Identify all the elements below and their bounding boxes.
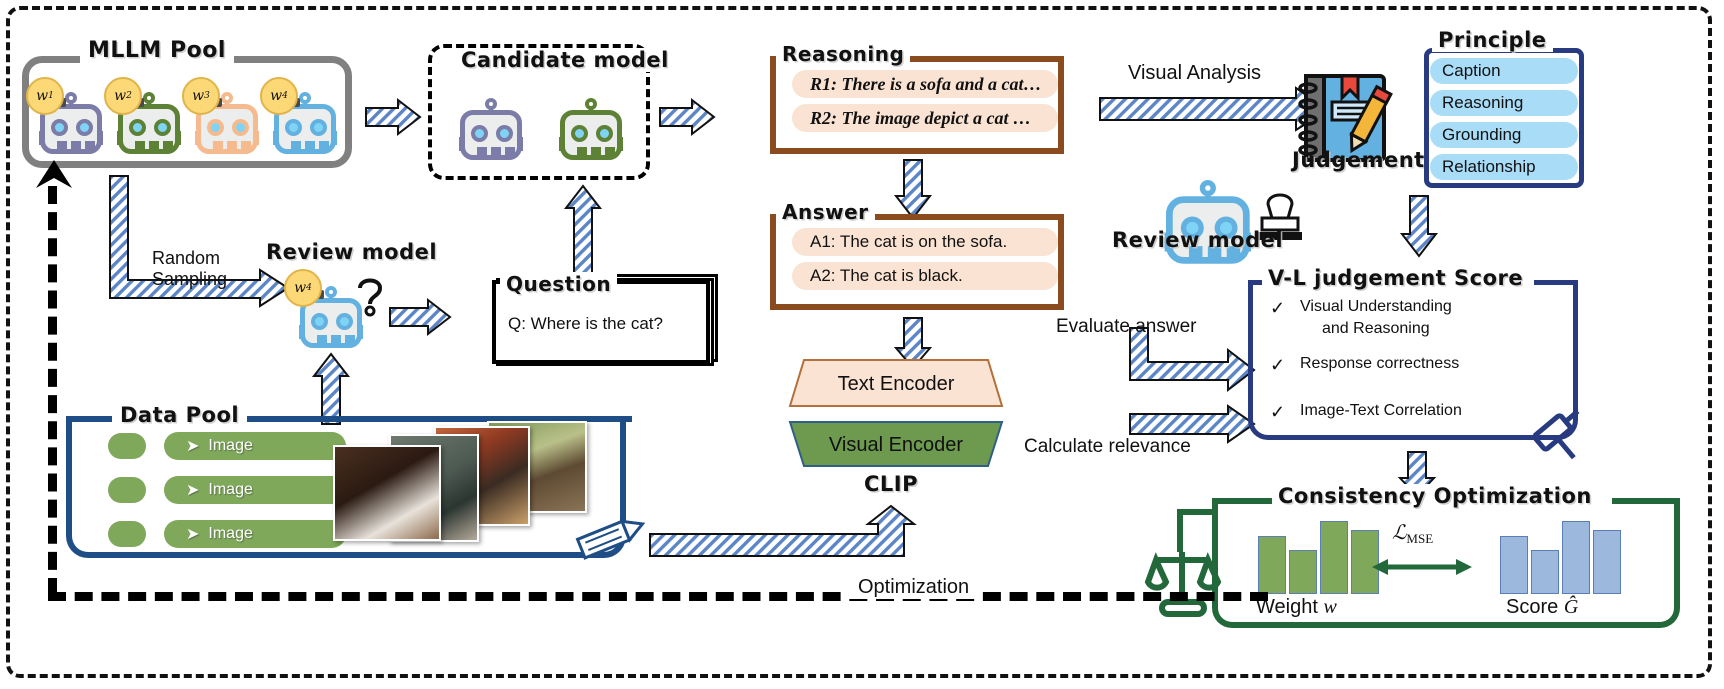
clip-label: CLIP <box>864 472 918 496</box>
weight-symbol-text: w <box>1323 596 1336 618</box>
robot-head-icon <box>560 110 622 160</box>
robot-mouth-icon <box>213 141 251 151</box>
robot-eye-left <box>51 119 68 136</box>
data-pool-item-label: Image <box>208 437 252 455</box>
pencil-icon <box>570 512 646 568</box>
co-top-left-rule <box>1212 498 1274 504</box>
robot-eye-right <box>154 119 171 136</box>
question-title: Question <box>500 272 617 296</box>
weight-symbol-2: w <box>114 88 126 104</box>
robot-ear-left <box>559 137 564 151</box>
weight-sub-2: 2 <box>126 91 132 101</box>
data-pool-bullet-dot-2 <box>108 477 146 503</box>
data-pool-item-label: Image <box>208 481 252 499</box>
reasoning-item-2: R2: The image depict a cat … <box>792 104 1058 132</box>
robot-eye-right <box>596 125 613 142</box>
weight-sub-4: 4 <box>282 91 288 101</box>
feedback-dashed-line <box>48 186 57 596</box>
vl-check-icon-1: ✓ <box>1270 298 1285 319</box>
answer-item-1: A1: The cat is on the sofa. <box>792 228 1058 256</box>
question-text: Q: Where is the cat? <box>508 314 663 334</box>
robot-mouth-icon <box>577 147 615 157</box>
answer-title: Answer <box>776 200 875 224</box>
robot-eye-left <box>571 125 588 142</box>
robot-eye-left <box>311 313 328 330</box>
weight-axis-label: Weight w <box>1256 596 1337 619</box>
robot-head-icon <box>460 110 522 160</box>
candidate-model-title: Candidate model <box>455 48 675 72</box>
score-symbol-text: Ĝ <box>1564 596 1578 618</box>
vl-check-icon-2: ✓ <box>1270 355 1285 376</box>
arrow-candidate-to-reasoning <box>660 100 716 134</box>
weight-badge-2: w2 <box>104 77 142 115</box>
loss-subscript: MSE <box>1406 531 1433 546</box>
robot-ear-left <box>195 131 200 145</box>
robot-mouth-icon <box>135 141 173 151</box>
robot-ear-left <box>459 137 464 151</box>
robot-mouth-icon <box>291 141 329 151</box>
robot-eye-right <box>336 313 353 330</box>
weight-badge-3: w3 <box>182 77 220 115</box>
reasoning-item-1: R1: There is a sofa and a cat… <box>792 70 1058 98</box>
robot-ear-right <box>98 131 103 145</box>
principle-item-relationship[interactable]: Relationship <box>1430 154 1578 180</box>
robot-eye-left <box>471 125 488 142</box>
evaluate-answer-label: Evaluate answer <box>1056 316 1196 338</box>
robot-ear-right <box>618 137 623 151</box>
data-pool-title: Data Pool <box>112 403 247 427</box>
bar-3 <box>1320 521 1348 594</box>
robot-ear-left <box>299 325 304 339</box>
principle-item-label: Relationship <box>1442 157 1536 177</box>
arrow-pool-to-candidate <box>366 100 422 134</box>
weight-badge-1: w1 <box>26 77 64 115</box>
review-weight-sub: 4 <box>306 283 312 293</box>
review-weight-badge: w4 <box>284 269 322 307</box>
bar-2 <box>1289 550 1317 594</box>
vl-check-icon-3: ✓ <box>1270 402 1285 423</box>
bar-4 <box>1593 530 1621 594</box>
answer-top-right-rule <box>874 214 1064 220</box>
principle-item-label: Reasoning <box>1442 93 1523 113</box>
robot-mouth-icon <box>57 141 95 151</box>
sample-photo-cat <box>333 445 441 541</box>
arrow-principle-to-vl <box>1402 196 1436 258</box>
bar-1 <box>1500 536 1528 594</box>
calculate-relevance-label: Calculate relevance <box>1024 436 1191 458</box>
review-weight-symbol: w <box>294 280 306 296</box>
score-bar-chart <box>1500 512 1621 594</box>
robot-eye-left <box>207 119 224 136</box>
vl-top-right-rule <box>1534 280 1578 285</box>
weight-sub-3: 3 <box>204 91 210 101</box>
review-model-title-left: Review model <box>266 240 437 264</box>
data-pool-item-2[interactable]: ➤ Image <box>164 476 346 504</box>
score-axis-label: Score Ĝ <box>1506 596 1578 619</box>
chevron-right-icon: ➤ <box>186 524 199 544</box>
review-model-title-right: Review model <box>1112 228 1283 252</box>
robot-eye-left <box>285 119 302 136</box>
robot-eye-right <box>232 119 249 136</box>
weight-symbol-1: w <box>36 88 48 104</box>
vl-item-3: Image-Text Correlation <box>1300 402 1462 420</box>
vl-item-1: Visual Understanding and Reasoning <box>1300 296 1452 339</box>
optimization-dashed-line <box>48 592 1268 601</box>
co-top-right-rule <box>1612 498 1680 504</box>
arrow-evaluate-answer <box>1130 328 1256 404</box>
data-pool-item-1[interactable]: ➤ Image <box>164 432 346 460</box>
robot-ear-right <box>518 137 523 151</box>
reasoning-top-right-rule <box>900 56 1064 62</box>
text-encoder-label: Text Encoder <box>790 360 1002 408</box>
candidate-robot-2[interactable] <box>560 98 622 160</box>
vl-item-2: Response correctness <box>1300 355 1459 373</box>
random-sampling-label: Random Sampling <box>152 248 227 289</box>
data-pool-bullet-dot-1 <box>108 433 146 459</box>
vl-judgement-title: V-L judgement Score <box>1262 266 1529 290</box>
arrow-reasoning-to-answer <box>896 160 930 220</box>
robot-ear-left <box>273 131 278 145</box>
principle-item-reasoning[interactable]: Reasoning <box>1430 90 1578 116</box>
robot-eye-right <box>76 119 93 136</box>
bar-3 <box>1562 521 1590 594</box>
data-pool-top-left-rule <box>66 416 114 422</box>
weight-badge-4: w4 <box>260 77 298 115</box>
consistency-title: Consistency Optimization <box>1272 484 1598 508</box>
principle-item-grounding[interactable]: Grounding <box>1430 122 1578 148</box>
robot-mouth-icon <box>317 335 355 345</box>
balance-scale-icon <box>1146 508 1232 620</box>
arrow-image-to-clip <box>650 512 918 564</box>
vl-item-1-line1: Visual Understanding <box>1300 296 1452 318</box>
visual-analysis-label: Visual Analysis <box>1128 62 1261 85</box>
robot-mouth-icon <box>477 147 515 157</box>
optimization-label: Optimization <box>848 576 979 599</box>
robot-eye-right <box>496 125 513 142</box>
candidate-robot-1[interactable] <box>460 98 522 160</box>
mse-loss-label: ℒMSE <box>1392 520 1433 547</box>
weight-bar-chart <box>1258 512 1379 594</box>
robot-ear-right <box>358 325 363 339</box>
principle-title: Principle <box>1432 28 1553 52</box>
robot-ear-right <box>332 131 337 145</box>
score-label-text: Score <box>1506 596 1558 618</box>
weight-symbol-3: w <box>192 88 204 104</box>
robot-ear-left <box>39 131 44 145</box>
mllm-pool-title: MLLM Pool <box>80 38 234 63</box>
visual-encoder-label: Visual Encoder <box>790 422 1002 468</box>
data-pool-item-3[interactable]: ➤ Image <box>164 520 346 548</box>
arrow-question-to-candidate <box>566 186 600 282</box>
random-sampling-line1: Random <box>152 248 227 269</box>
mse-double-arrow-icon <box>1372 556 1472 578</box>
arrow-review-to-question <box>390 300 452 334</box>
principle-item-label: Caption <box>1442 61 1501 81</box>
data-pool-item-label: Image <box>208 525 252 543</box>
robot-ear-right <box>176 131 181 145</box>
weight-symbol-4: w <box>270 88 282 104</box>
arrow-random-sampling <box>110 176 290 316</box>
question-mark-icon <box>356 276 390 316</box>
chevron-right-icon: ➤ <box>186 480 199 500</box>
bar-2 <box>1531 550 1559 594</box>
vl-item-1-line2: and Reasoning <box>1300 318 1452 340</box>
robot-eye-left <box>129 119 146 136</box>
chevron-right-icon: ➤ <box>186 436 199 456</box>
principle-item-label: Grounding <box>1442 125 1521 145</box>
loss-symbol: ℒ <box>1392 522 1406 544</box>
answer-item-2: A2: The cat is black. <box>792 262 1058 290</box>
principle-item-caption[interactable]: Caption <box>1430 58 1578 84</box>
reasoning-title: Reasoning <box>776 42 910 66</box>
bar-1 <box>1258 536 1286 594</box>
gavel-icon <box>1532 400 1596 464</box>
judgement-label: Judgement <box>1292 148 1425 172</box>
random-sampling-line2: Sampling <box>152 269 227 290</box>
robot-ear-left <box>117 131 122 145</box>
weight-sub-1: 1 <box>48 91 54 101</box>
robot-ear-right <box>254 131 259 145</box>
data-pool-bullet-dot-3 <box>108 521 146 547</box>
robot-eye-right <box>310 119 327 136</box>
